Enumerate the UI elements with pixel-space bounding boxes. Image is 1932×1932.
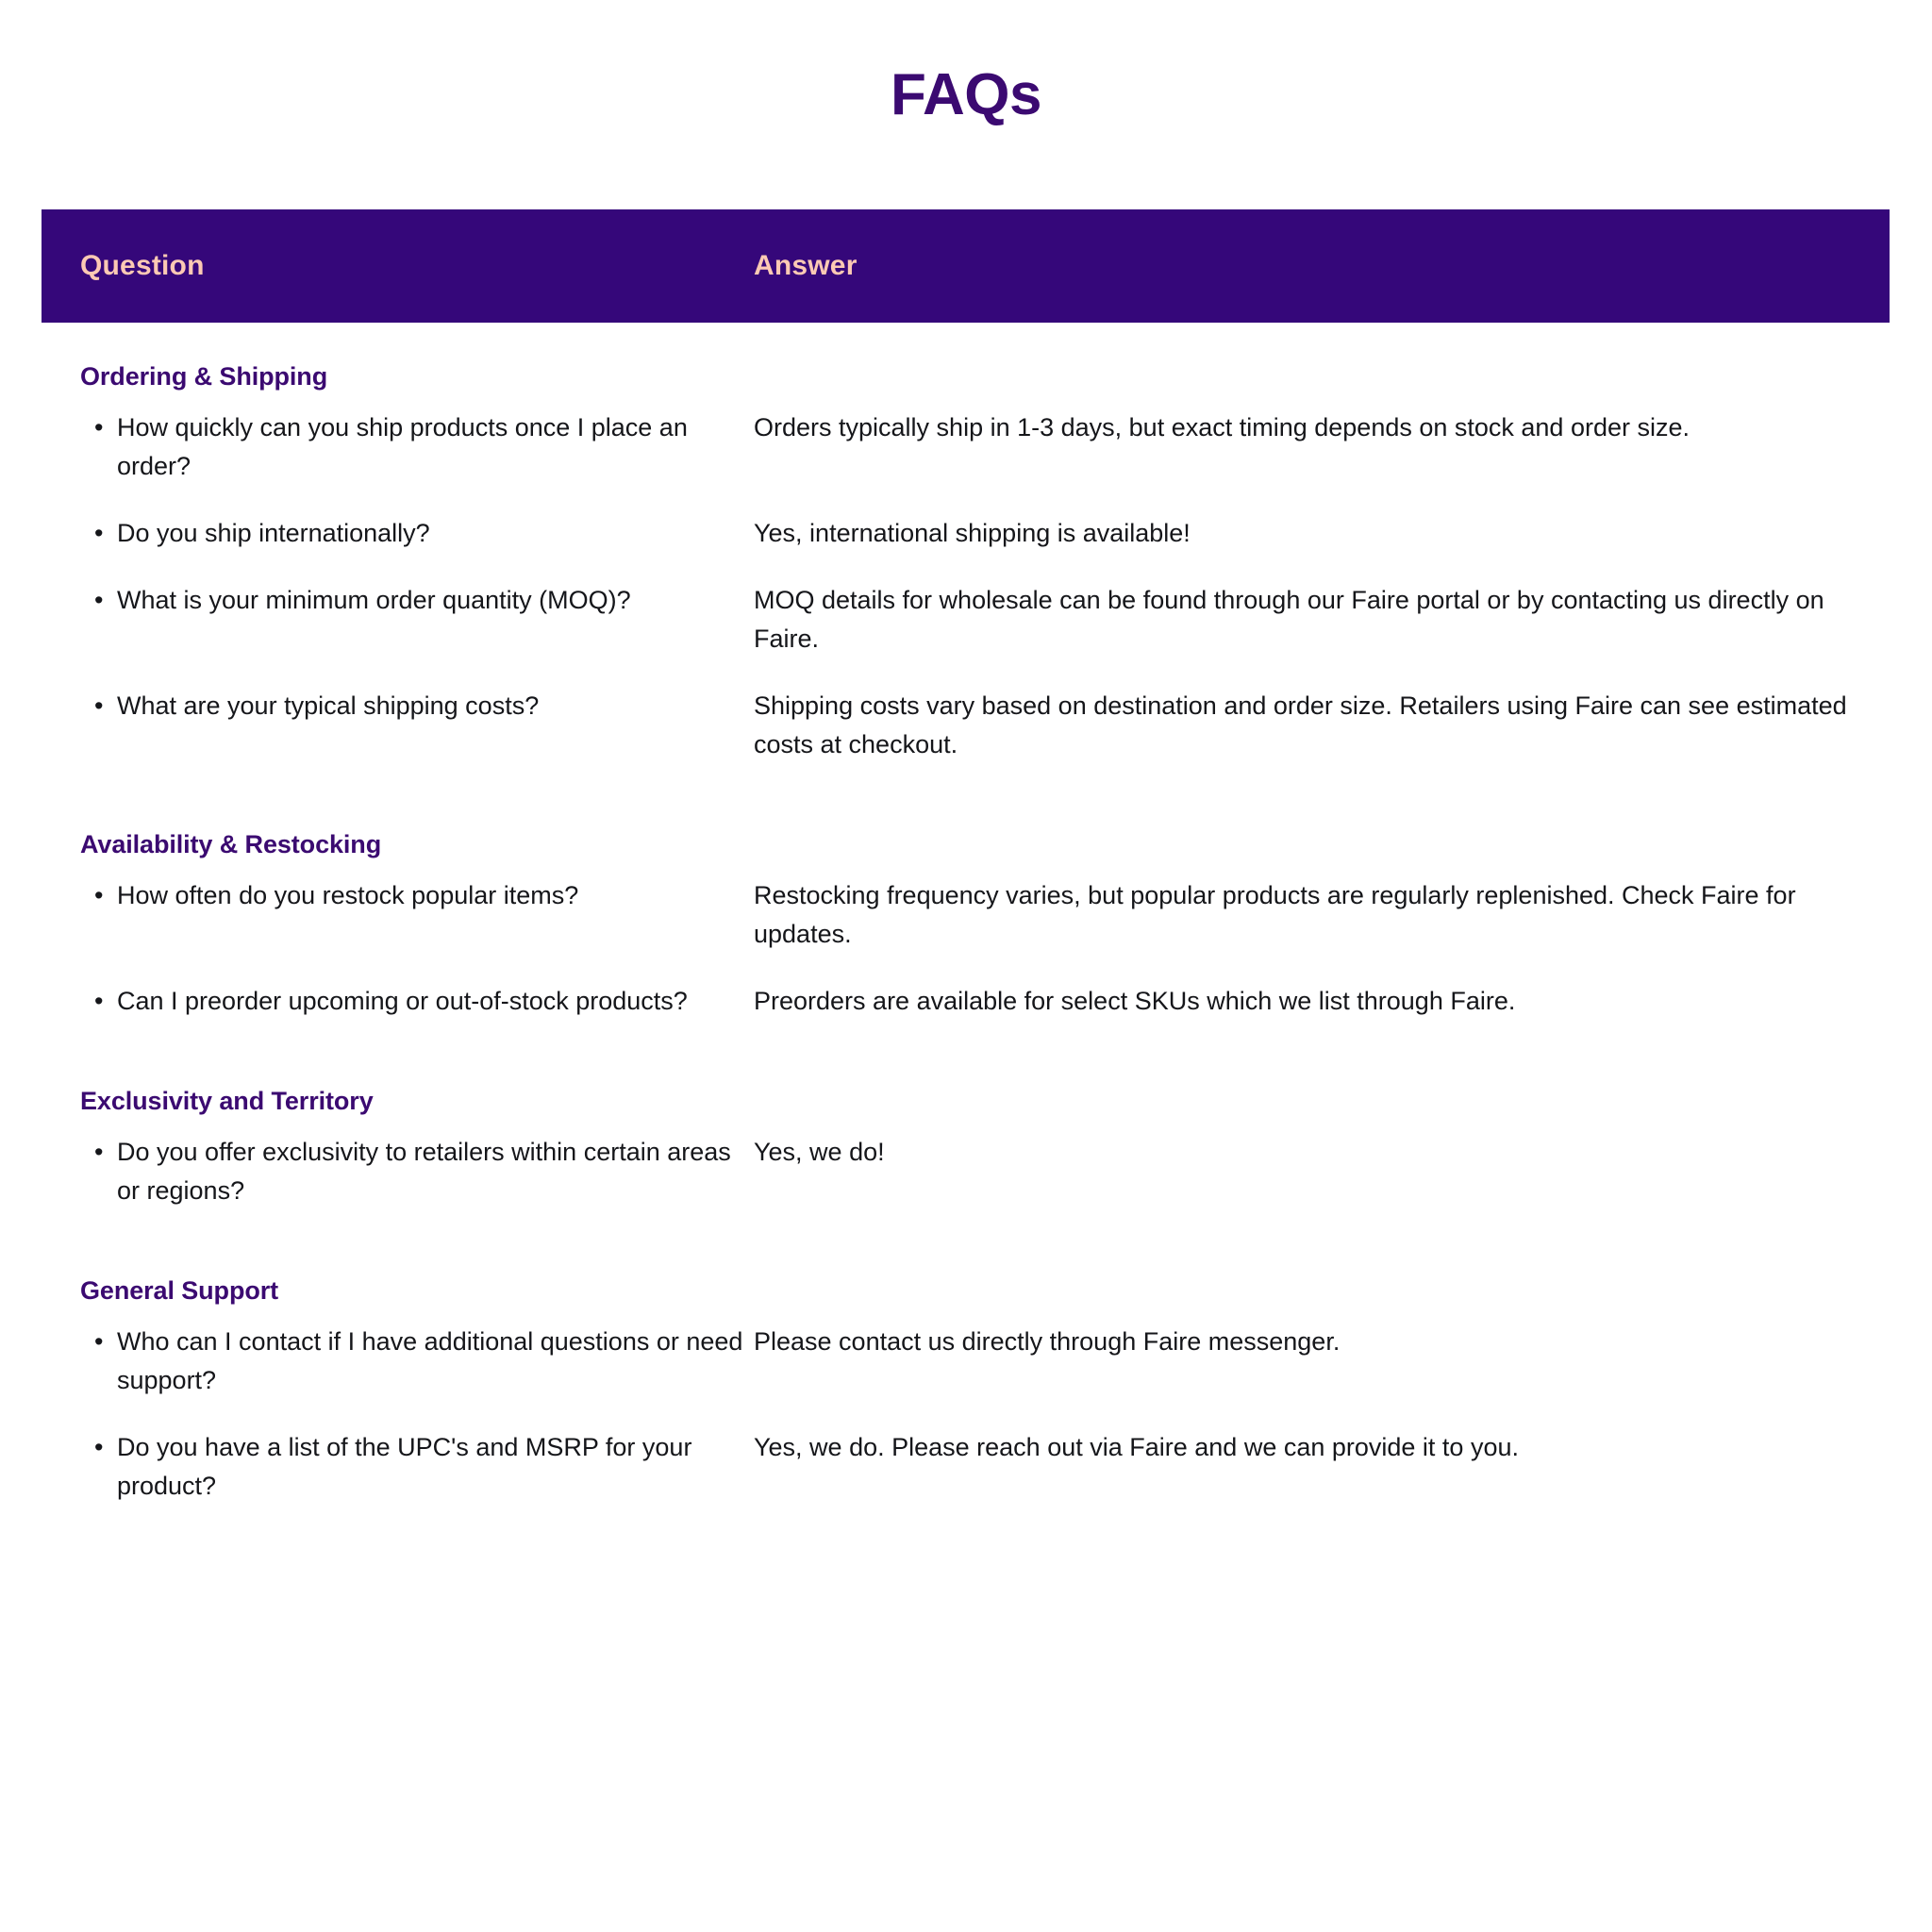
bullet-icon: • (94, 876, 103, 915)
faq-question-text: How often do you restock popular items? (117, 881, 578, 909)
faq-answer: Please contact us directly through Faire… (754, 1323, 1890, 1361)
bullet-icon: • (94, 982, 103, 1021)
bullet-icon: • (94, 1428, 103, 1467)
section-title: Availability & Restocking (42, 830, 1890, 859)
bullet-icon: • (94, 1133, 103, 1172)
bullet-icon: • (94, 1323, 103, 1361)
bullet-icon: • (94, 687, 103, 725)
faq-row: •What is your minimum order quantity (MO… (42, 581, 1890, 658)
faq-row: •Do you offer exclusivity to retailers w… (42, 1133, 1890, 1210)
faq-table-header: Question Answer (42, 209, 1890, 323)
faq-answer: Shipping costs vary based on destination… (754, 687, 1890, 764)
faq-row: •What are your typical shipping costs?Sh… (42, 687, 1890, 764)
faq-answer: Yes, international shipping is available… (754, 514, 1890, 553)
faq-question: •Do you have a list of the UPC's and MSR… (42, 1428, 754, 1506)
faq-question-text: How quickly can you ship products once I… (117, 413, 688, 480)
faq-question: •How often do you restock popular items? (42, 876, 754, 915)
faq-page: FAQs Question Answer Ordering & Shipping… (0, 0, 1932, 1932)
faq-row: •Do you have a list of the UPC's and MSR… (42, 1428, 1890, 1506)
faq-row: •Can I preorder upcoming or out-of-stock… (42, 982, 1890, 1021)
faq-question: •Do you offer exclusivity to retailers w… (42, 1133, 754, 1210)
faq-question-text: What are your typical shipping costs? (117, 691, 539, 720)
faq-row: •How often do you restock popular items?… (42, 876, 1890, 954)
faq-row: •How quickly can you ship products once … (42, 408, 1890, 486)
faq-question-text: What is your minimum order quantity (MOQ… (117, 586, 631, 614)
faq-question-text: Can I preorder upcoming or out-of-stock … (117, 987, 688, 1015)
section-title: Exclusivity and Territory (42, 1087, 1890, 1116)
faq-answer: Orders typically ship in 1-3 days, but e… (754, 408, 1890, 447)
section-spacer (42, 1049, 1890, 1087)
section-spacer (42, 1239, 1890, 1276)
faq-answer: MOQ details for wholesale can be found t… (754, 581, 1890, 658)
faq-question: •What is your minimum order quantity (MO… (42, 581, 754, 620)
bullet-icon: • (94, 514, 103, 553)
faq-answer: Preorders are available for select SKUs … (754, 982, 1890, 1021)
faq-question: •How quickly can you ship products once … (42, 408, 754, 486)
faq-question-text: Do you offer exclusivity to retailers wi… (117, 1138, 731, 1205)
faq-question-text: Who can I contact if I have additional q… (117, 1327, 742, 1394)
faq-sections: Ordering & Shipping•How quickly can you … (42, 323, 1890, 1535)
faq-section: Ordering & Shipping•How quickly can you … (42, 362, 1890, 764)
faq-section: Exclusivity and Territory•Do you offer e… (42, 1087, 1890, 1210)
faq-question: •Can I preorder upcoming or out-of-stock… (42, 982, 754, 1021)
faq-question: •Do you ship internationally? (42, 514, 754, 553)
bullet-icon: • (94, 408, 103, 447)
section-spacer (42, 792, 1890, 830)
faq-question-text: Do you have a list of the UPC's and MSRP… (117, 1433, 691, 1500)
page-title: FAQs (0, 0, 1932, 125)
faq-question: •Who can I contact if I have additional … (42, 1323, 754, 1400)
faq-question-text: Do you ship internationally? (117, 519, 430, 547)
faq-section: General Support•Who can I contact if I h… (42, 1276, 1890, 1506)
faq-answer: Restocking frequency varies, but popular… (754, 876, 1890, 954)
column-header-answer: Answer (754, 250, 1890, 282)
column-header-question: Question (42, 250, 754, 282)
section-title: General Support (42, 1276, 1890, 1306)
bullet-icon: • (94, 581, 103, 620)
faq-row: •Do you ship internationally?Yes, intern… (42, 514, 1890, 553)
faq-question: •What are your typical shipping costs? (42, 687, 754, 725)
faq-section: Availability & Restocking•How often do y… (42, 830, 1890, 1021)
section-title: Ordering & Shipping (42, 362, 1890, 391)
faq-answer: Yes, we do! (754, 1133, 1890, 1172)
faq-answer: Yes, we do. Please reach out via Faire a… (754, 1428, 1890, 1467)
faq-row: •Who can I contact if I have additional … (42, 1323, 1890, 1400)
